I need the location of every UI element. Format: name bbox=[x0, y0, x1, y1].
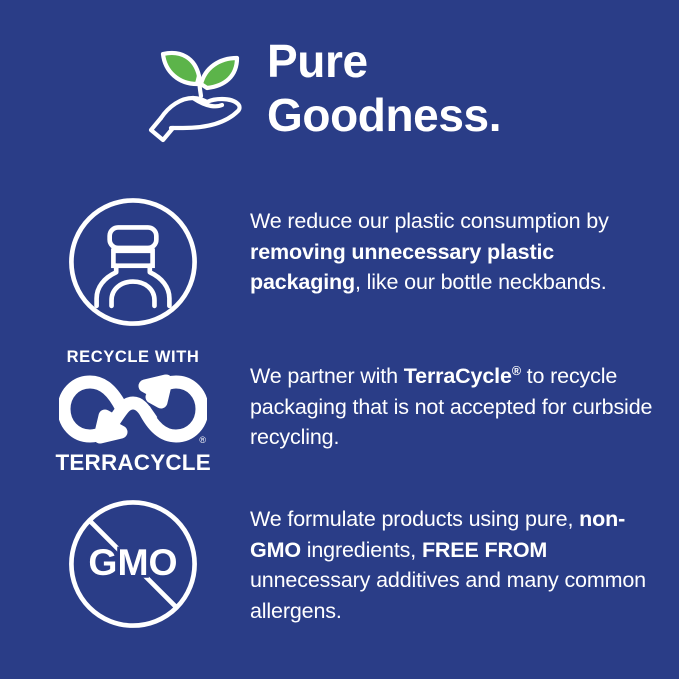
no-gmo-circle-icon: GMO bbox=[58, 494, 208, 634]
text-segment-bold: TerraCycle bbox=[404, 364, 512, 388]
bottle-neckband-circle-icon bbox=[58, 192, 208, 332]
feature-text-non-gmo: We formulate products using pure, non-GM… bbox=[250, 494, 668, 626]
feature-text-terracycle: We partner with TerraCycle® to recycle p… bbox=[250, 348, 668, 453]
text-segment: We reduce our plastic consumption by bbox=[250, 209, 609, 233]
feature-row-non-gmo: GMO We formulate products using pure, no… bbox=[58, 494, 668, 634]
registered-mark: ® bbox=[199, 436, 206, 445]
hand-holding-sprout-icon bbox=[145, 32, 257, 144]
terracycle-logo: RECYCLE WITH ® TERRACYCLE bbox=[58, 348, 208, 476]
registered-mark-inline: ® bbox=[512, 364, 521, 378]
feature-text-plastic-reduction: We reduce our plastic consumption by rem… bbox=[250, 192, 668, 298]
text-segment: ingredients, bbox=[301, 538, 422, 562]
header: Pure Goodness. bbox=[145, 28, 501, 144]
feature-row-terracycle: RECYCLE WITH ® TERRACYCLE bbox=[58, 348, 668, 476]
terracycle-bottom-label: TERRACYCLE bbox=[55, 450, 210, 476]
no-gmo-label: GMO bbox=[88, 541, 177, 583]
text-segment: We partner with bbox=[250, 364, 404, 388]
terracycle-top-label: RECYCLE WITH bbox=[67, 348, 200, 367]
text-segment: , like our bottle neckbands. bbox=[355, 270, 607, 294]
text-segment-bold: FREE FROM bbox=[422, 538, 547, 562]
text-segment: We formulate products using pure, bbox=[250, 507, 579, 531]
text-segment: unnecessary additives and many common al… bbox=[250, 568, 646, 623]
page-title: Pure Goodness. bbox=[267, 28, 501, 143]
pure-goodness-infographic: Pure Goodness. We reduce our plastic con… bbox=[0, 0, 679, 679]
feature-row-plastic-reduction: We reduce our plastic consumption by rem… bbox=[58, 192, 668, 332]
terracycle-infinity-icon: ® bbox=[59, 371, 207, 447]
